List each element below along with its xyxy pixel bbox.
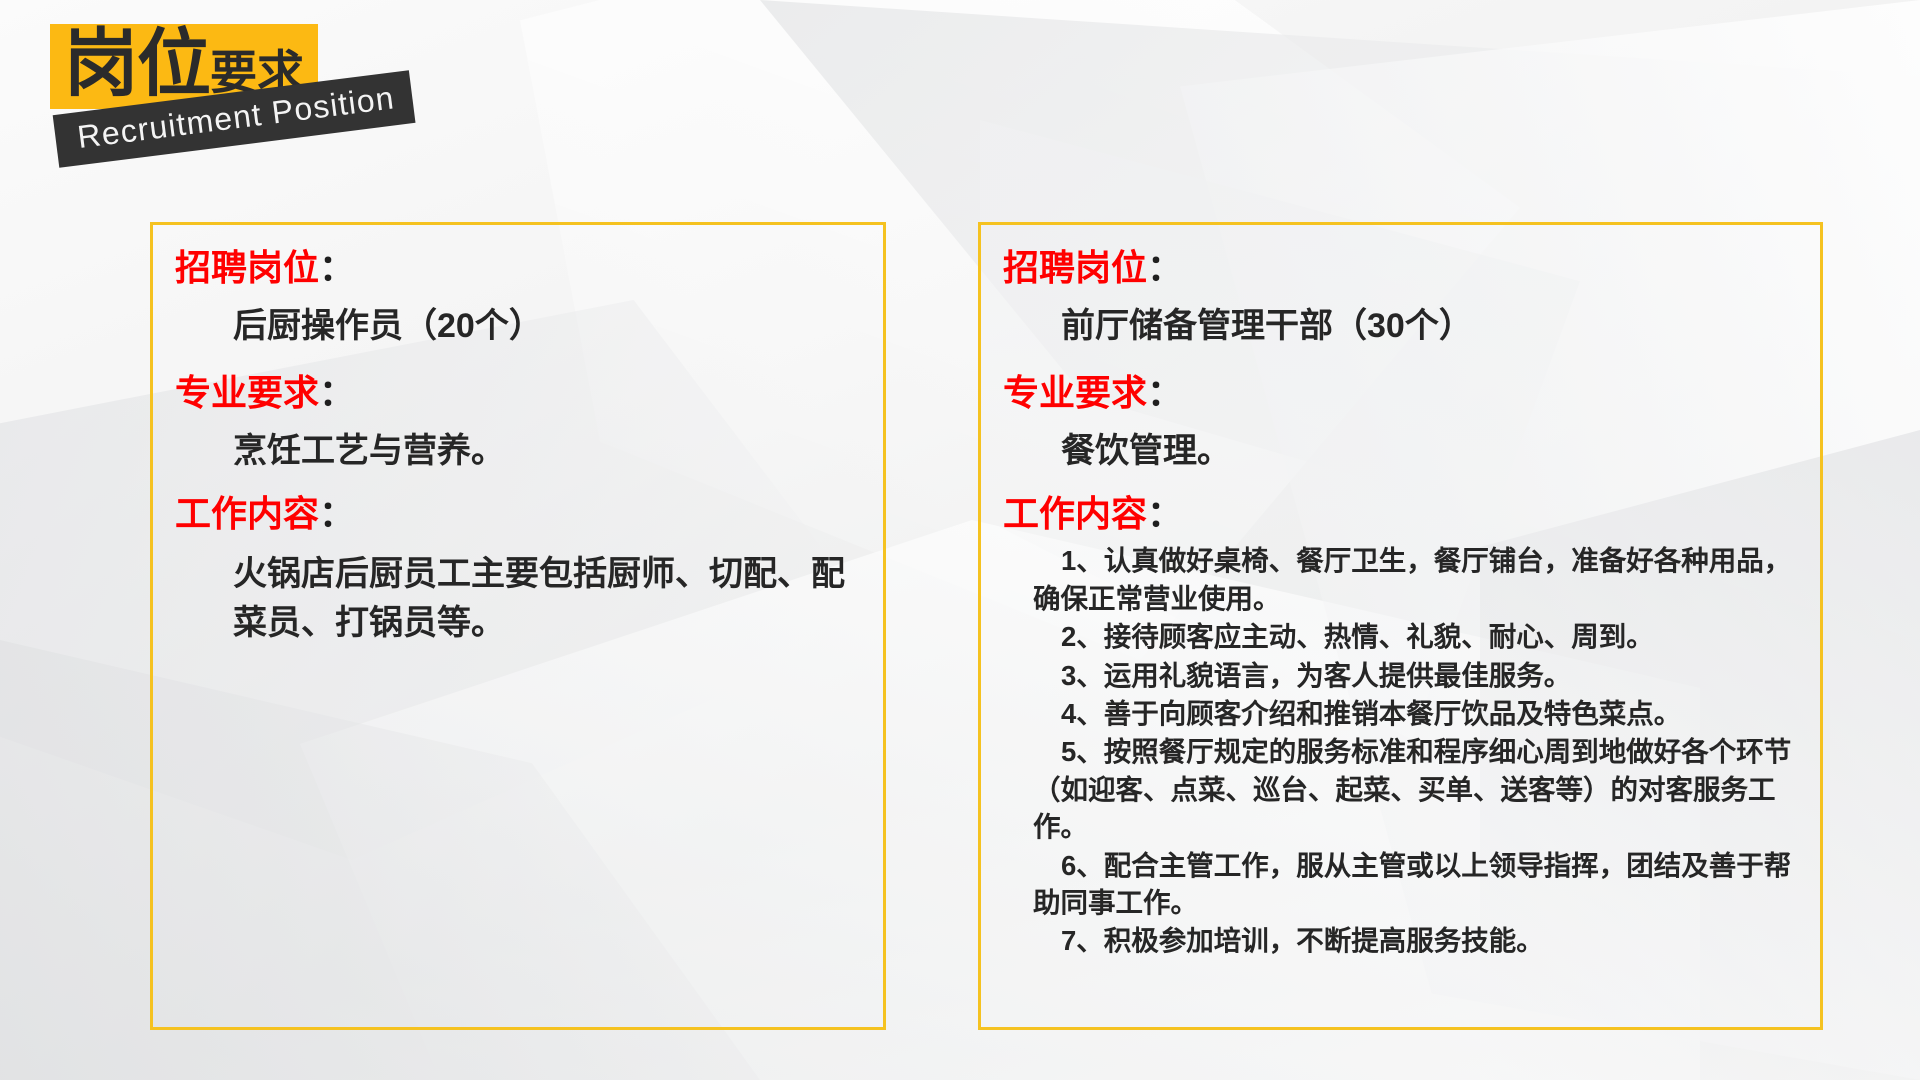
duty-item: 2、接待顾客应主动、热情、礼貌、耐心、周到。	[1033, 618, 1798, 655]
duties-label-left: 工作内容：	[175, 491, 857, 536]
duties-label-text-left: 工作内容	[175, 493, 319, 534]
position-colon-left: ：	[319, 247, 355, 288]
position-value-right: 前厅储备管理干部（30个）	[1003, 304, 1798, 348]
duties-text-left: 火锅店后厨员工主要包括厨师、切配、配菜员、打锅员等。	[175, 550, 857, 647]
major-colon-right: ：	[1147, 372, 1183, 413]
duty-item: 3、运用礼貌语言，为客人提供最佳服务。	[1033, 657, 1798, 694]
duties-label-text-right: 工作内容	[1003, 493, 1147, 534]
duty-item: 4、善于向顾客介绍和推销本餐厅饮品及特色菜点。	[1033, 695, 1798, 732]
title-main-text: 岗位	[64, 22, 210, 105]
position-label-left: 招聘岗位：	[175, 245, 857, 290]
slide-title-block: 岗位要求 Recruitment Position	[38, 14, 468, 194]
duty-item: 5、按照餐厅规定的服务标准和程序细心周到地做好各个环节（如迎客、点菜、巡台、起菜…	[1033, 733, 1798, 845]
position-label-text-left: 招聘岗位	[175, 247, 319, 288]
duties-colon-right: ：	[1147, 493, 1183, 534]
job-panel-left: 招聘岗位： 后厨操作员（20个） 专业要求： 烹饪工艺与营养。 工作内容： 火锅…	[150, 222, 886, 1030]
major-value-right: 餐饮管理。	[1003, 429, 1798, 473]
duty-item: 7、积极参加培训，不断提高服务技能。	[1033, 922, 1798, 959]
major-colon-left: ：	[319, 372, 355, 413]
position-colon-right: ：	[1147, 247, 1183, 288]
job-panel-right: 招聘岗位： 前厅储备管理干部（30个） 专业要求： 餐饮管理。 工作内容： 1、…	[978, 222, 1823, 1030]
duty-item: 1、认真做好桌椅、餐厅卫生，餐厅铺台，准备好各种用品，确保正常营业使用。	[1033, 542, 1798, 617]
position-label-text-right: 招聘岗位	[1003, 247, 1147, 288]
major-label-right: 专业要求：	[1003, 370, 1798, 415]
slide-canvas: 岗位要求 Recruitment Position 招聘岗位： 后厨操作员（20…	[0, 0, 1920, 1080]
duty-item: 6、配合主管工作，服从主管或以上领导指挥，团结及善于帮助同事工作。	[1033, 847, 1798, 922]
major-label-left: 专业要求：	[175, 370, 857, 415]
position-label-right: 招聘岗位：	[1003, 245, 1798, 290]
major-label-text-left: 专业要求	[175, 372, 319, 413]
duties-list-right: 1、认真做好桌椅、餐厅卫生，餐厅铺台，准备好各种用品，确保正常营业使用。2、接待…	[1003, 542, 1798, 959]
major-label-text-right: 专业要求	[1003, 372, 1147, 413]
position-value-left: 后厨操作员（20个）	[175, 304, 857, 348]
duties-colon-left: ：	[319, 493, 355, 534]
major-value-left: 烹饪工艺与营养。	[175, 429, 857, 473]
duties-label-right: 工作内容：	[1003, 491, 1798, 536]
